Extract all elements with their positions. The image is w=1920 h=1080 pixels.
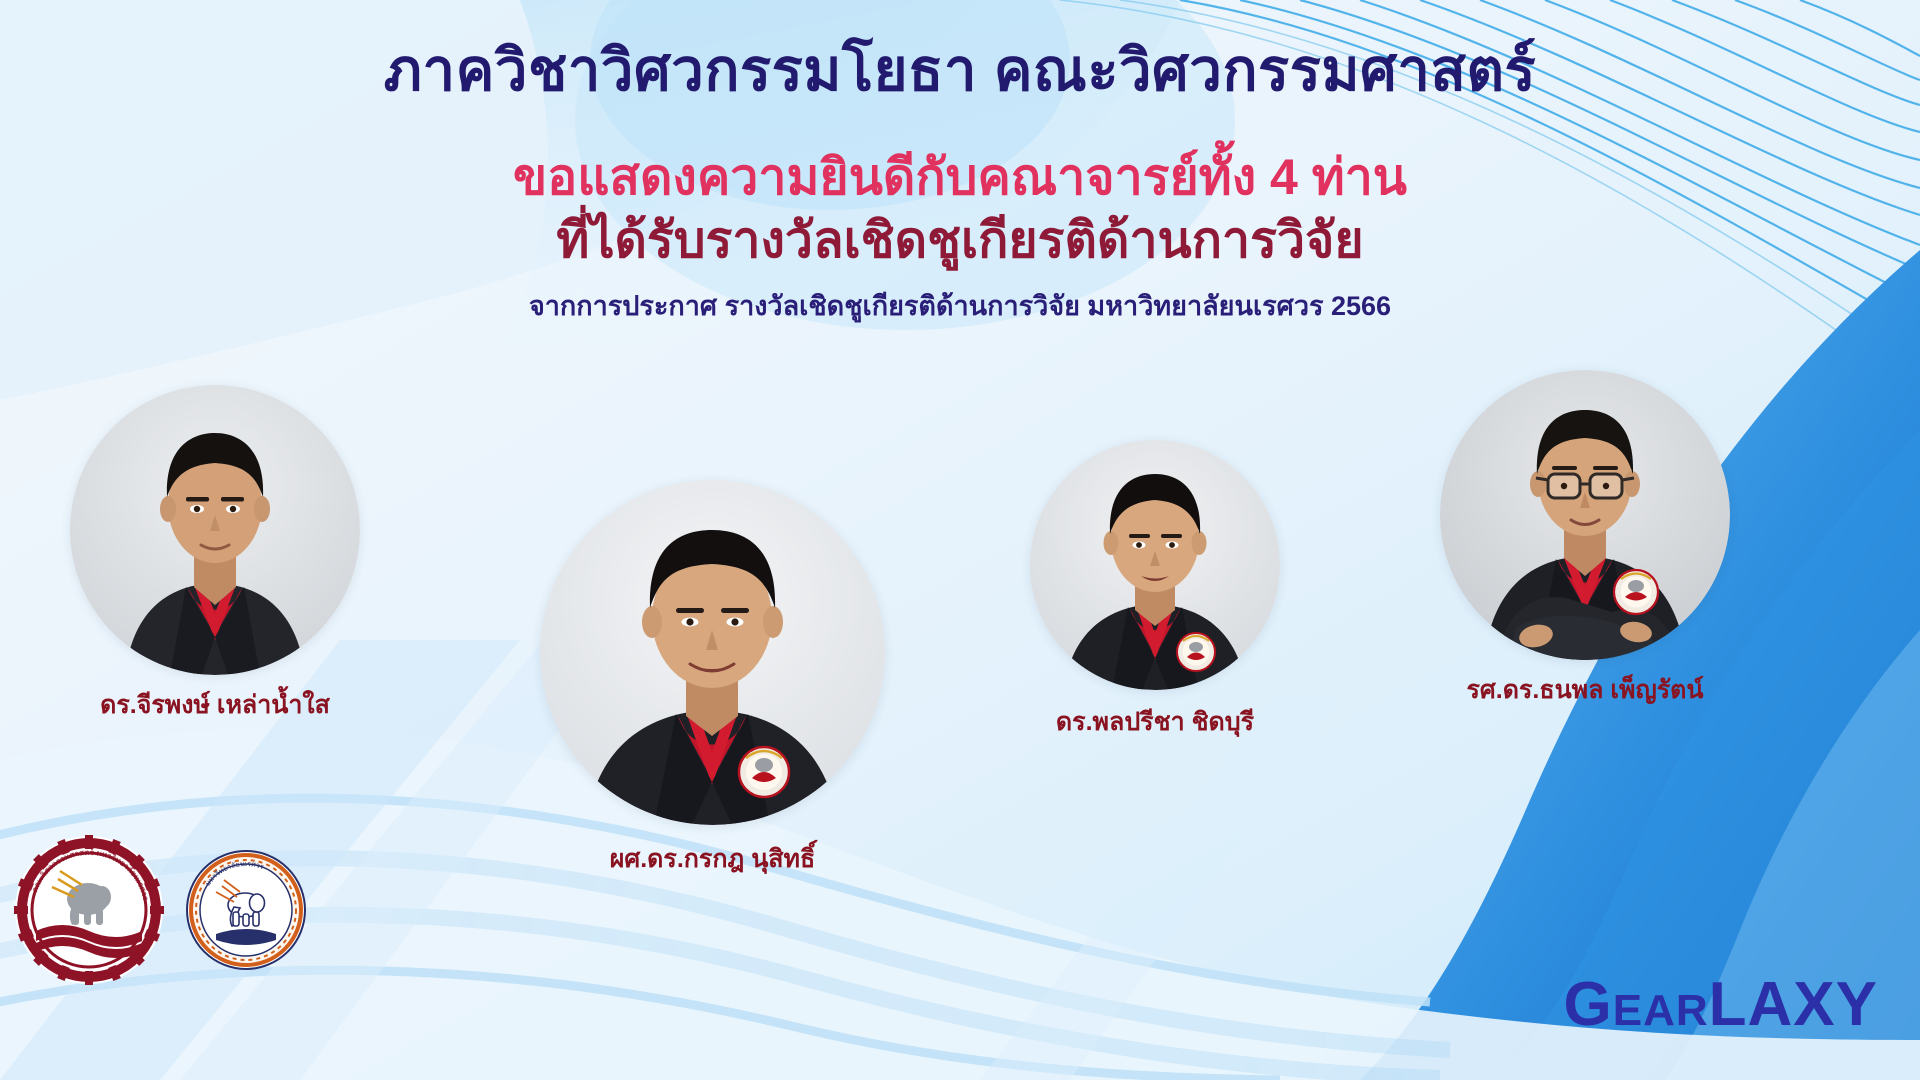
brand-tail: LAXY bbox=[1709, 970, 1878, 1039]
congratulation-line-2: ที่ได้รับรางวัลเชิดชูเกียรติด้านการวิจัย bbox=[0, 211, 1920, 270]
avatar-1 bbox=[70, 385, 360, 675]
logo-university-naresuan: มหาวิทยาลัยนเรศวร bbox=[186, 850, 306, 975]
person-name-2: ผศ.ดร.กรกฎ นุสิทธิ์ bbox=[540, 839, 885, 879]
brand-letter-r: R bbox=[1676, 986, 1709, 1035]
logo-group: คณะวิศวกรรมศาสตร์ มหาวิทยาลัยนเรศวร bbox=[14, 835, 306, 990]
avatar-3 bbox=[1030, 440, 1280, 690]
congratulation-line-1: ขอแสดงความยินดีกับคณาจารย์ทั้ง 4 ท่าน bbox=[0, 148, 1920, 207]
award-source-line: จากการประกาศ รางวัลเชิดชูเกียรติด้านการว… bbox=[0, 284, 1920, 327]
logo-faculty-engineering: คณะวิศวกรรมศาสตร์ มหาวิทยาลัยนเรศวร bbox=[14, 835, 164, 990]
page-title: ภาควิชาวิศวกรรมโยธา คณะวิศวกรรมศาสตร์ bbox=[0, 36, 1920, 106]
person-name-4: รศ.ดร.ธนพล เพ็ญรัตน์ bbox=[1440, 670, 1730, 710]
person-name-3: ดร.พลปรีชา ชิดบุรี bbox=[1030, 702, 1280, 742]
brand-letter-a: A bbox=[1643, 986, 1676, 1035]
person-card-1: ดร.จีรพงษ์ เหล่าน้ำใส bbox=[70, 385, 360, 725]
poster-canvas: ภาควิชาวิศวกรรมโยธา คณะวิศวกรรมศาสตร์ ขอ… bbox=[0, 0, 1920, 1080]
person-card-2: ผศ.ดร.กรกฎ นุสิทธิ์ bbox=[540, 480, 885, 879]
person-name-1: ดร.จีรพงษ์ เหล่าน้ำใส bbox=[70, 685, 360, 725]
avatar-2 bbox=[540, 480, 885, 825]
avatar-4 bbox=[1440, 370, 1730, 660]
brand-letter-e: E bbox=[1613, 986, 1643, 1035]
person-card-3: ดร.พลปรีชา ชิดบุรี bbox=[1030, 440, 1280, 742]
brand-letter-g: G bbox=[1563, 970, 1612, 1039]
brand-logo-gearlaxy: GEARLAXY bbox=[1563, 969, 1878, 1040]
person-card-4: รศ.ดร.ธนพล เพ็ญรัตน์ bbox=[1440, 370, 1730, 710]
headline-block: ภาควิชาวิศวกรรมโยธา คณะวิศวกรรมศาสตร์ ขอ… bbox=[0, 0, 1920, 327]
